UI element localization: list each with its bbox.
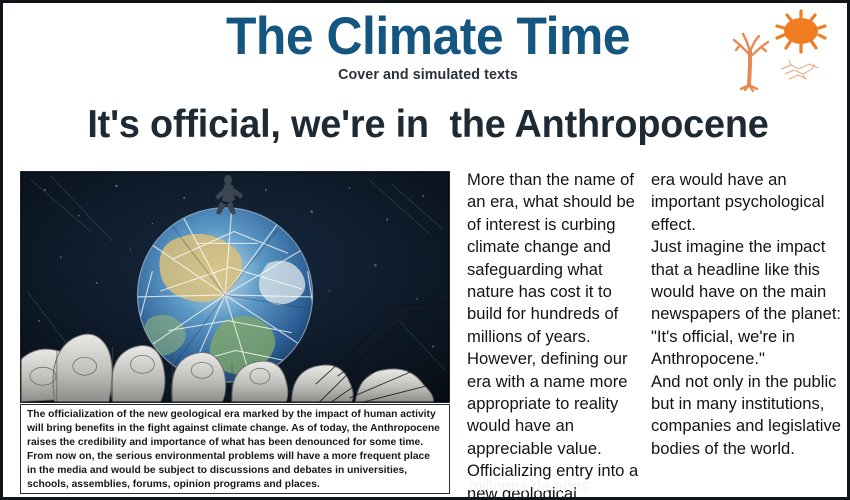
bare-tree-icon	[734, 34, 768, 91]
background-watermark-text: millones de años	[469, 477, 669, 497]
newspaper-page: The Climate Time Cover and simulated tex…	[0, 0, 850, 500]
body-column-2: era would have an important psychologica…	[651, 169, 847, 460]
body-column-1: More than the name of an era, what shoul…	[467, 169, 643, 500]
article-photo	[20, 171, 450, 403]
sun-icon	[777, 11, 825, 52]
cracked-ground-icon	[781, 60, 818, 79]
article-headline: It's official, we're in the Anthropocene	[16, 102, 841, 148]
photo-caption-text: The officialization of the new geologica…	[27, 408, 440, 493]
publication-subtitle: Cover and simulated texts	[24, 66, 832, 84]
publication-title: The Climate Time	[29, 9, 828, 65]
photo-caption-box: The officialization of the new geologica…	[20, 404, 450, 494]
sun-and-bare-tree-logo	[719, 7, 839, 95]
